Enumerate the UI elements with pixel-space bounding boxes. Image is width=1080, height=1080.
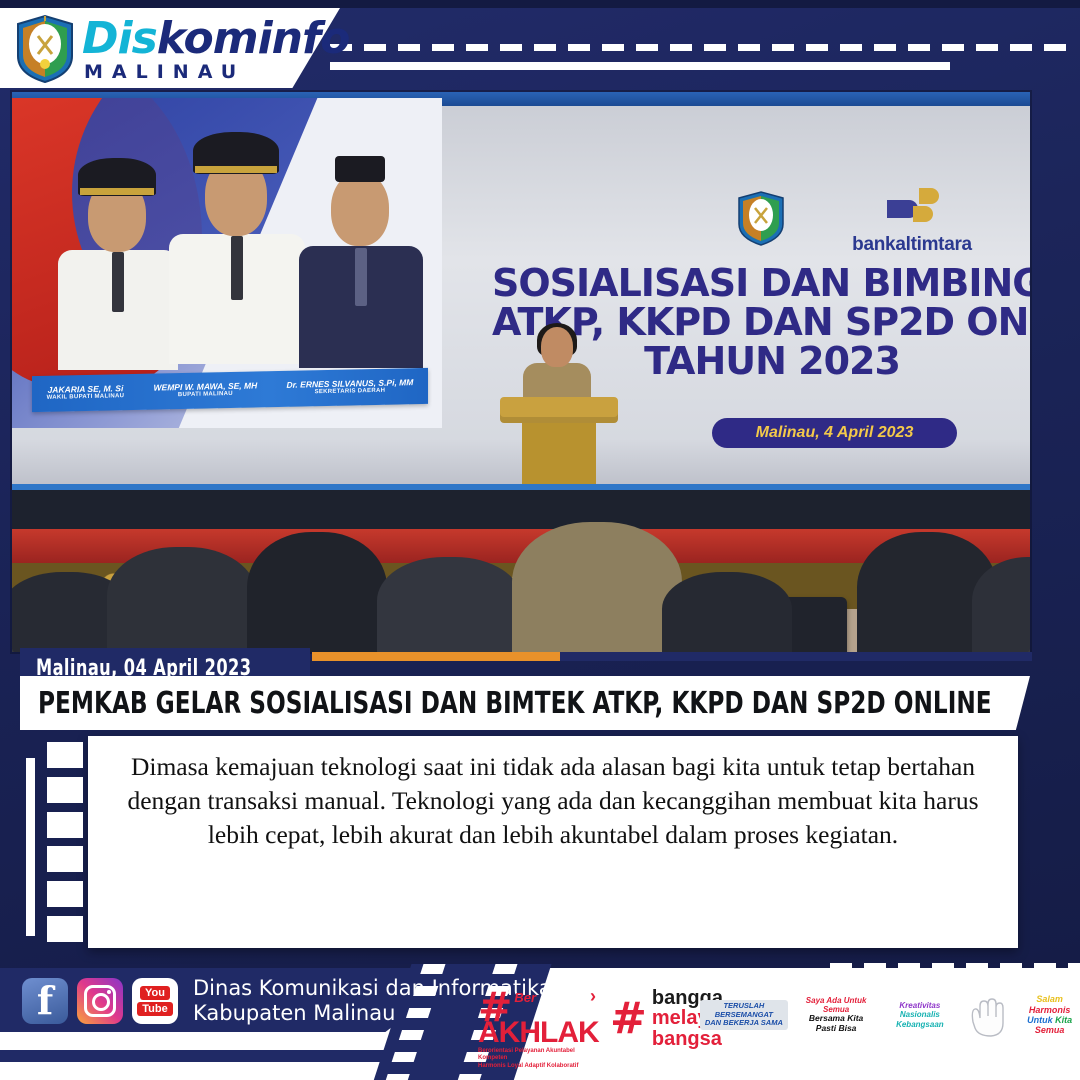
berakhlak-chevron: › bbox=[590, 986, 596, 1007]
tagline-3-line2: Nasionalis Kebangsaan bbox=[884, 1010, 955, 1028]
page-title: PEMKAB GELAR SOSIALISASI DAN BIMTEK ATKP… bbox=[38, 686, 992, 721]
tagline-2-line1: Saya Ada Untuk Semua bbox=[798, 996, 875, 1014]
logo-text-dis: Dis bbox=[82, 13, 157, 64]
audience-member bbox=[377, 557, 522, 652]
official-3-role: SEKRETARIS DAERAH bbox=[286, 388, 413, 397]
filmstrip-decoration bbox=[47, 742, 87, 942]
tagline-1-line1: TERUSLAH BERSEMANGAT bbox=[704, 1002, 784, 1019]
brand-wordmark: Diskominfo MALINAU bbox=[82, 17, 349, 82]
berakhlak-logo: › # Ber AKHLAK Berorientasi Pelayanan Ak… bbox=[478, 990, 596, 1070]
official-2-role: BUPATI MALINAU bbox=[154, 391, 258, 400]
audience-member bbox=[247, 532, 387, 652]
berakhlak-main: AKHLAK bbox=[478, 1021, 596, 1045]
filmstrip-hole bbox=[47, 881, 83, 907]
headline-title-box: PEMKAB GELAR SOSIALISASI DAN BIMTEK ATKP… bbox=[20, 676, 1030, 730]
official-1-role: WAKIL BUPATI MALINAU bbox=[47, 394, 125, 402]
logo-text-kominfo: kominfo bbox=[157, 13, 350, 64]
banner-date-pill: Malinau, 4 April 2023 bbox=[712, 418, 957, 448]
berakhlak-sub-line2: Harmonis Loyal Adaptif Kolaboratif bbox=[478, 1063, 596, 1071]
berakhlak-ber: Ber bbox=[514, 990, 536, 1005]
social-links: f You Tube Dinas Komunikasi dan Informat… bbox=[22, 976, 552, 1026]
tagline-2: Saya Ada Untuk Semua Bersama Kita Pasti … bbox=[798, 996, 875, 1034]
header-white-bar bbox=[330, 62, 950, 70]
tagline-1: TERUSLAH BERSEMANGAT DAN BEKERJA SAMA bbox=[700, 1000, 788, 1030]
facebook-icon[interactable]: f bbox=[22, 978, 68, 1024]
instagram-glyph bbox=[84, 985, 116, 1017]
filmstrip-hole bbox=[47, 846, 83, 872]
headline-navy-bar bbox=[560, 652, 1032, 661]
brand-logo[interactable]: Diskominfo MALINAU bbox=[14, 14, 349, 84]
audience-member bbox=[512, 522, 682, 652]
tagline-row: TERUSLAH BERSEMANGAT DAN BEKERJA SAMA Sa… bbox=[700, 992, 1080, 1038]
bankaltimtara-logo: bankaltimtara bbox=[852, 188, 972, 256]
banner-officials-panel: JAKARIA SE, M. Si WAKIL BUPATI MALINAU W… bbox=[12, 98, 442, 428]
tagline-3: Kreativitas Nasionalis Kebangsaan bbox=[884, 1001, 955, 1029]
instagram-icon[interactable] bbox=[77, 978, 123, 1024]
filmstrip-hole bbox=[47, 742, 83, 768]
youtube-icon[interactable]: You Tube bbox=[132, 978, 178, 1024]
filmstrip-hole bbox=[47, 916, 83, 942]
youtube-label-bottom: Tube bbox=[137, 1002, 172, 1016]
audience-member bbox=[662, 572, 792, 652]
banner-crest-icon bbox=[736, 190, 786, 246]
header-dashed-line bbox=[330, 44, 1070, 51]
footer: f You Tube Dinas Komunikasi dan Informat… bbox=[0, 968, 1080, 1080]
open-hand-icon bbox=[965, 992, 1009, 1038]
body-text: Dimasa kemajuan teknologi saat ini tidak… bbox=[106, 750, 1000, 852]
facebook-glyph: f bbox=[37, 982, 53, 1020]
official-name-2: WEMPI W. MAWA, SE, MH BUPATI MALINAU bbox=[154, 381, 258, 399]
malinau-regency-crest-icon bbox=[14, 14, 76, 84]
berakhlak-sub-line1: Berorientasi Pelayanan Akuntabel Kompete… bbox=[478, 1048, 596, 1063]
body-card: Dimasa kemajuan teknologi saat ini tidak… bbox=[88, 736, 1018, 948]
tagline-2-line2: Bersama Kita Pasti Bisa bbox=[798, 1014, 875, 1034]
headline-orange-bar bbox=[312, 652, 560, 661]
stage-dark-band bbox=[12, 490, 1030, 530]
official-name-1: JAKARIA SE, M. Si WAKIL BUPATI MALINAU bbox=[47, 384, 125, 402]
tagline-3-line1: Kreativitas bbox=[884, 1001, 955, 1010]
filmstrip-hole bbox=[47, 777, 83, 803]
official-portrait-1 bbox=[54, 138, 182, 368]
logo-subtext: MALINAU bbox=[82, 63, 349, 82]
official-name-3: Dr. ERNES SILVANUS, S.Pi, MM SEKRETARIS … bbox=[286, 378, 413, 397]
tagline-1-line2: DAN BEKERJA SAMA bbox=[704, 1019, 784, 1028]
filmstrip-hole bbox=[47, 812, 83, 838]
poster-canvas: Diskominfo MALINAU bbox=[0, 0, 1080, 1080]
official-portrait-3 bbox=[297, 130, 425, 368]
event-photo: JAKARIA SE, M. Si WAKIL BUPATI MALINAU W… bbox=[12, 92, 1030, 652]
official-portrait-2 bbox=[167, 118, 307, 368]
tagline-4: Salam Harmonis Untuk Kita Semua bbox=[1019, 994, 1080, 1035]
youtube-label-top: You bbox=[140, 986, 170, 1000]
bankaltimtara-name: bankaltimtara bbox=[852, 234, 972, 256]
bangga-hash: # bbox=[610, 1000, 647, 1037]
filmstrip-rail bbox=[26, 758, 35, 936]
audience-member bbox=[107, 547, 257, 652]
top-band bbox=[0, 0, 1080, 8]
bankaltimtara-mark-icon bbox=[885, 188, 939, 230]
banner-title-line1: SOSIALISASI DAN BIMBINGAN bbox=[492, 264, 1030, 303]
